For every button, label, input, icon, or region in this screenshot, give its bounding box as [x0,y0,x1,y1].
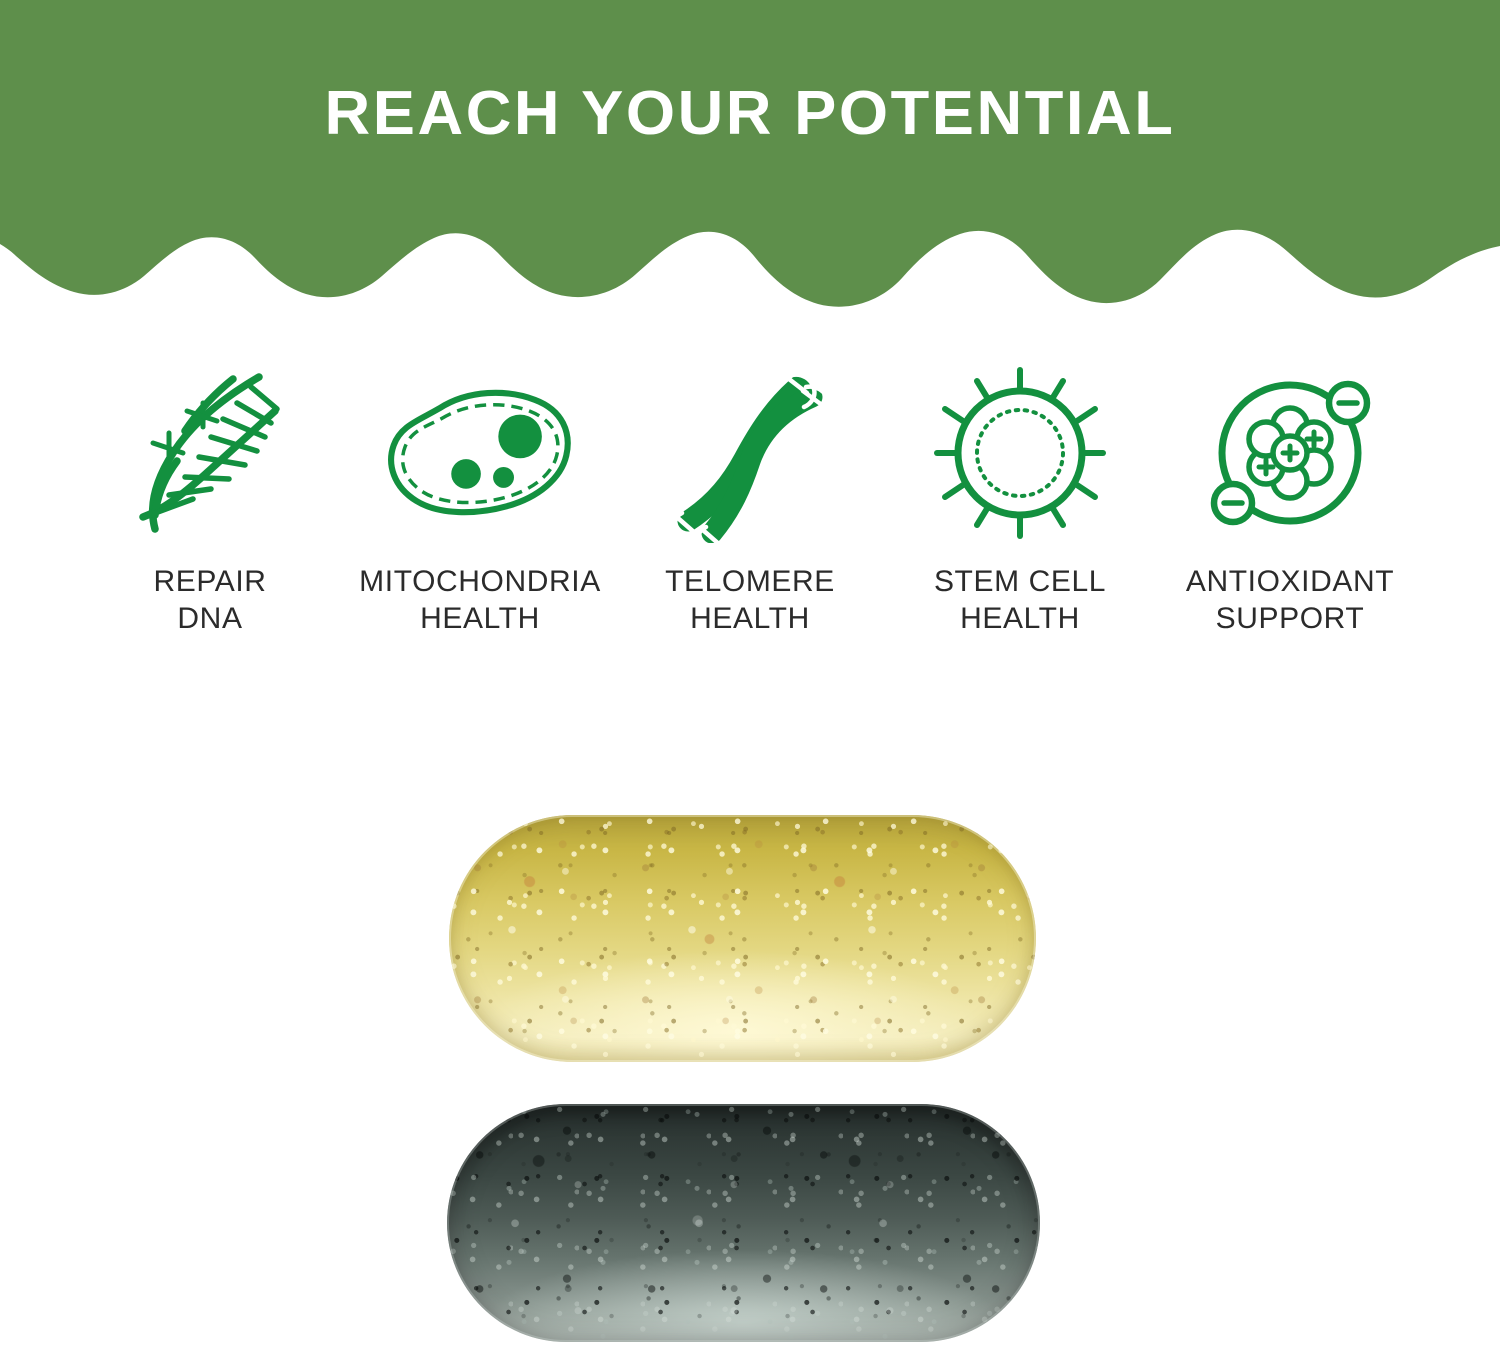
tablet-texture [447,1104,1040,1342]
tablet-texture [449,815,1036,1062]
tablet-rim [449,815,1036,1062]
tablet-texture [447,1104,1040,1342]
tablet-rim [447,1104,1040,1342]
tablet-texture [449,815,1036,1062]
benefit-telomere-health: TELOMERE HEALTH [615,360,885,637]
benefit-label: STEM CELL HEALTH [934,563,1106,637]
tablet-texture [447,1104,1040,1342]
header-banner: REACH YOUR POTENTIAL [0,0,1500,320]
mitochondria-icon [385,360,575,545]
page-title: REACH YOUR POTENTIAL [0,78,1500,150]
benefits-row: REPAIR DNA MITOCHONDRIA HEALTH [75,360,1425,637]
dark-tablet [447,1104,1040,1342]
benefit-repair-dna: REPAIR DNA [75,360,345,637]
benefit-label: REPAIR DNA [153,563,266,637]
product-infographic: REACH YOUR POTENTIAL [0,0,1500,1357]
benefit-label: ANTIOXIDANT SUPPORT [1186,563,1394,637]
benefit-stem-cell-health: STEM CELL HEALTH [885,360,1155,637]
benefit-antioxidant-support: ANTIOXIDANT SUPPORT [1155,360,1425,637]
yellow-tablet [449,815,1036,1062]
benefit-mitochondria-health: MITOCHONDRIA HEALTH [345,360,615,637]
dna-helix-icon [115,360,305,545]
product-tablets [0,700,1500,1357]
chromosome-telomere-icon [655,360,845,545]
stem-cell-icon [925,360,1115,545]
tablet-texture [449,815,1036,1062]
header-wave-shape [0,0,1500,320]
benefit-label: TELOMERE HEALTH [665,563,835,637]
antioxidant-atom-icon [1195,360,1385,545]
benefit-label: MITOCHONDRIA HEALTH [359,563,601,637]
